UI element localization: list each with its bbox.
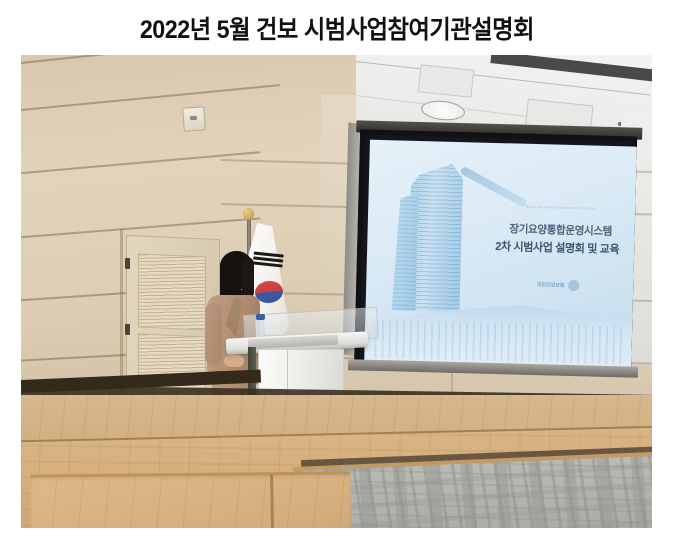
page-title: 2022년 5월 건보 시범사업참여기관설명회 [140, 10, 534, 46]
presenter-arm-left [205, 303, 222, 365]
stage-front-platform [30, 471, 351, 528]
photo-container: National Health Insurance Service 장기요양통합… [21, 55, 652, 528]
presenter-hair-side [242, 257, 254, 299]
wall-speaker-icon [182, 106, 206, 131]
projected-slide: National Health Insurance Service 장기요양통합… [364, 140, 637, 369]
nhis-logo-icon [568, 279, 579, 290]
slide-title-line-2: 2차 시범사업 설명회 및 교육 [484, 238, 630, 258]
water-bottle-cap [256, 314, 265, 320]
door-hinge-icon [125, 258, 130, 269]
door-hinge-icon [125, 324, 130, 335]
slide-logo-text: 국민건강보험 [537, 281, 565, 289]
building-beam-graphic [459, 166, 528, 208]
page-root: 2022년 5월 건보 시범사업참여기관설명회 [0, 0, 674, 550]
flagpole-finial-icon [243, 208, 254, 220]
screen-border: National Health Insurance Service 장기요양통합… [354, 129, 637, 368]
building-tower-secondary-graphic [392, 192, 419, 311]
slide-title-line-1: 장기요양통합운영시스템 [490, 220, 631, 240]
ceiling-vent [418, 64, 475, 97]
presenter-hair-front [220, 253, 242, 293]
page-title-bar: 2022년 5월 건보 시범사업참여기관설명회 [0, 0, 674, 55]
slide-logo: 국민건강보험 [524, 276, 592, 294]
slide-kicker-text: National Health Insurance Service [496, 204, 626, 211]
door-louver-panel [138, 253, 206, 330]
projection-screen: National Health Insurance Service 장기요양통합… [354, 129, 637, 381]
